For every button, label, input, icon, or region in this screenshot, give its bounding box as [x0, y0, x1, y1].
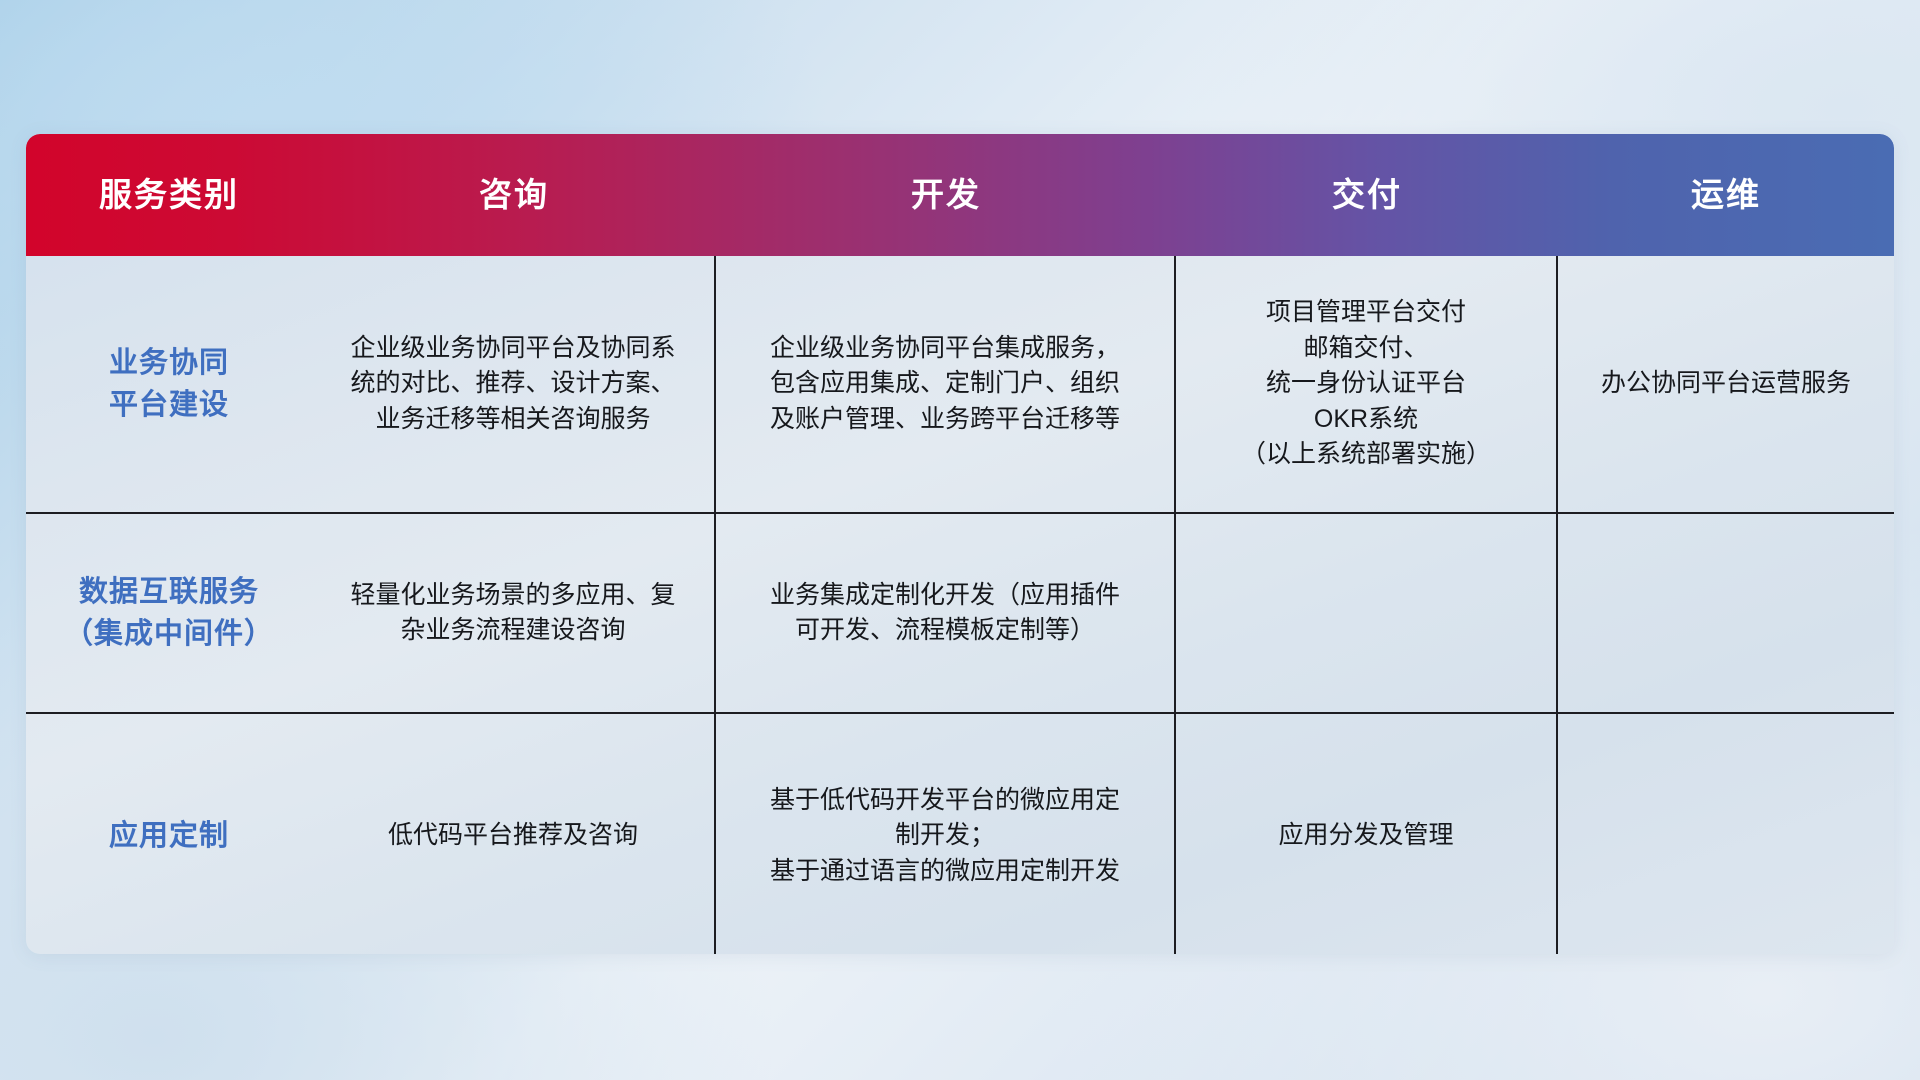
cell-consulting: 低代码平台推荐及咨询: [312, 714, 716, 954]
table-row: 应用定制 低代码平台推荐及咨询 基于低代码开发平台的微应用定 制开发； 基于通过…: [26, 714, 1894, 954]
column-header-development: 开发: [716, 175, 1176, 215]
row-category-label: 业务协同 平台建设: [26, 256, 312, 512]
row-category-label: 数据互联服务 （集成中间件）: [26, 514, 312, 712]
cell-development: 企业级业务协同平台集成服务， 包含应用集成、定制门户、组织 及账户管理、业务跨平…: [716, 256, 1176, 512]
service-matrix-table: 服务类别 咨询 开发 交付 运维 业务协同 平台建设 企业级业务协同平台及协同系…: [26, 134, 1894, 954]
cell-operations: [1558, 514, 1894, 712]
cell-development: 业务集成定制化开发（应用插件 可开发、流程模板定制等）: [716, 514, 1176, 712]
cell-delivery: [1176, 514, 1558, 712]
column-header-delivery: 交付: [1176, 175, 1558, 215]
cell-development: 基于低代码开发平台的微应用定 制开发； 基于通过语言的微应用定制开发: [716, 714, 1176, 954]
cell-operations: [1558, 714, 1894, 954]
cell-operations: 办公协同平台运营服务: [1558, 256, 1894, 512]
cell-consulting: 企业级业务协同平台及协同系 统的对比、推荐、设计方案、 业务迁移等相关咨询服务: [312, 256, 716, 512]
row-category-label: 应用定制: [26, 714, 312, 954]
table-row: 数据互联服务 （集成中间件） 轻量化业务场景的多应用、复 杂业务流程建设咨询 业…: [26, 514, 1894, 714]
slide-canvas: 服务类别 咨询 开发 交付 运维 业务协同 平台建设 企业级业务协同平台及协同系…: [0, 0, 1920, 1080]
table-row: 业务协同 平台建设 企业级业务协同平台及协同系 统的对比、推荐、设计方案、 业务…: [26, 256, 1894, 514]
cell-delivery: 项目管理平台交付 邮箱交付、 统一身份认证平台 OKR系统 （以上系统部署实施）: [1176, 256, 1558, 512]
column-header-operations: 运维: [1558, 175, 1894, 215]
column-header-consulting: 咨询: [312, 175, 716, 215]
column-header-category: 服务类别: [26, 175, 312, 215]
table-body: 业务协同 平台建设 企业级业务协同平台及协同系 统的对比、推荐、设计方案、 业务…: [26, 256, 1894, 954]
table-header-row: 服务类别 咨询 开发 交付 运维: [26, 134, 1894, 256]
cell-delivery: 应用分发及管理: [1176, 714, 1558, 954]
cell-consulting: 轻量化业务场景的多应用、复 杂业务流程建设咨询: [312, 514, 716, 712]
